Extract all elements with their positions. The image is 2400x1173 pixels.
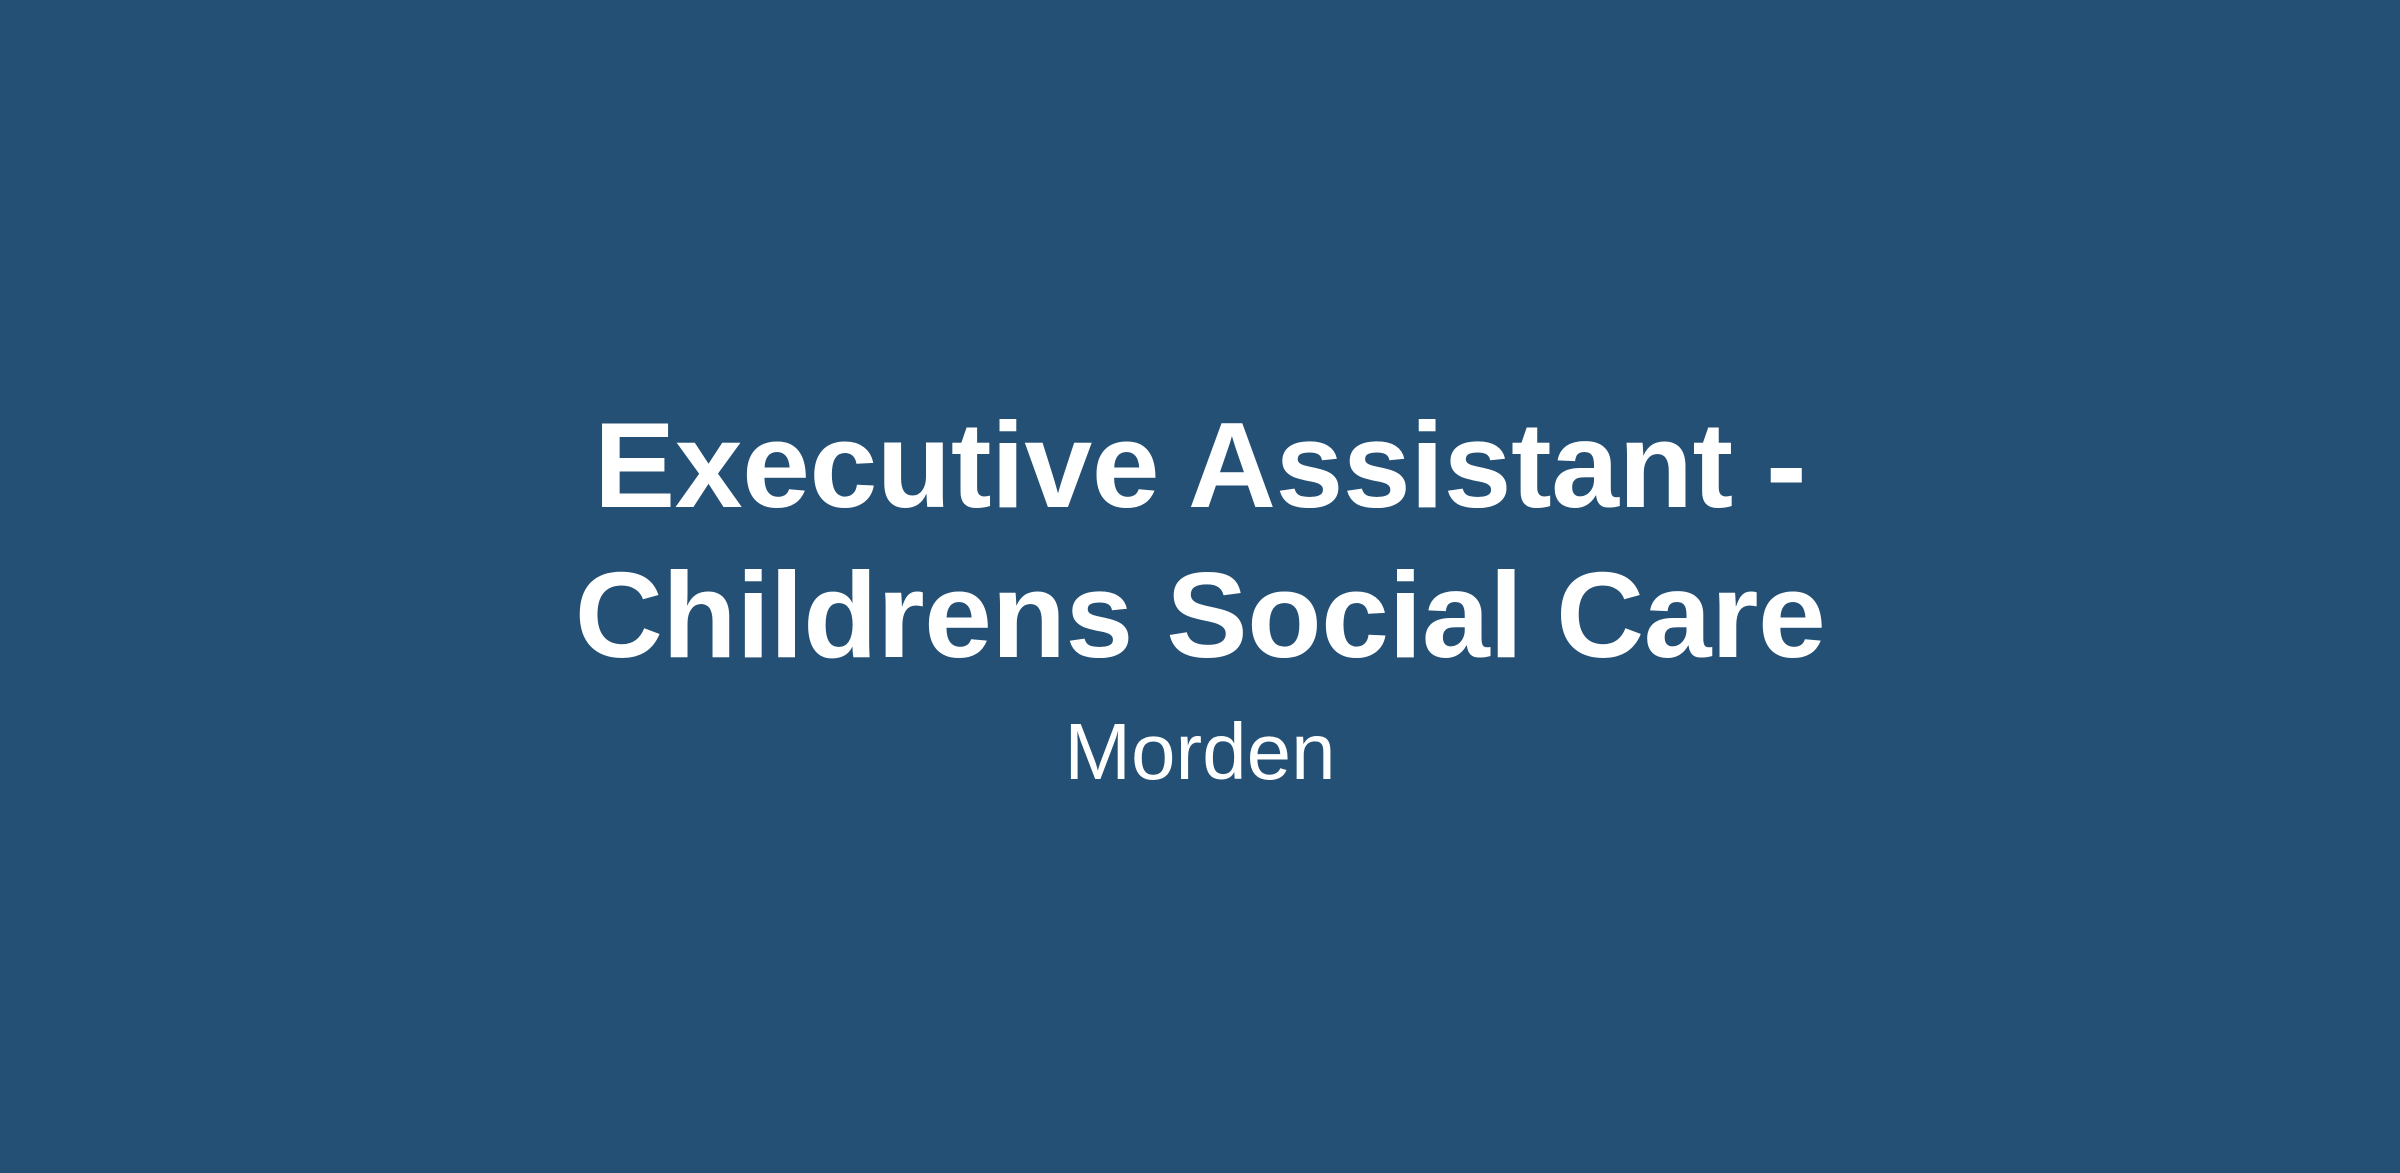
job-share-card: Executive Assistant - Childrens Social C… (0, 0, 2400, 1173)
job-title: Executive Assistant - Childrens Social C… (530, 390, 1870, 690)
card-text-block: Executive Assistant - Childrens Social C… (530, 390, 1870, 800)
job-location: Morden (1064, 704, 1335, 800)
